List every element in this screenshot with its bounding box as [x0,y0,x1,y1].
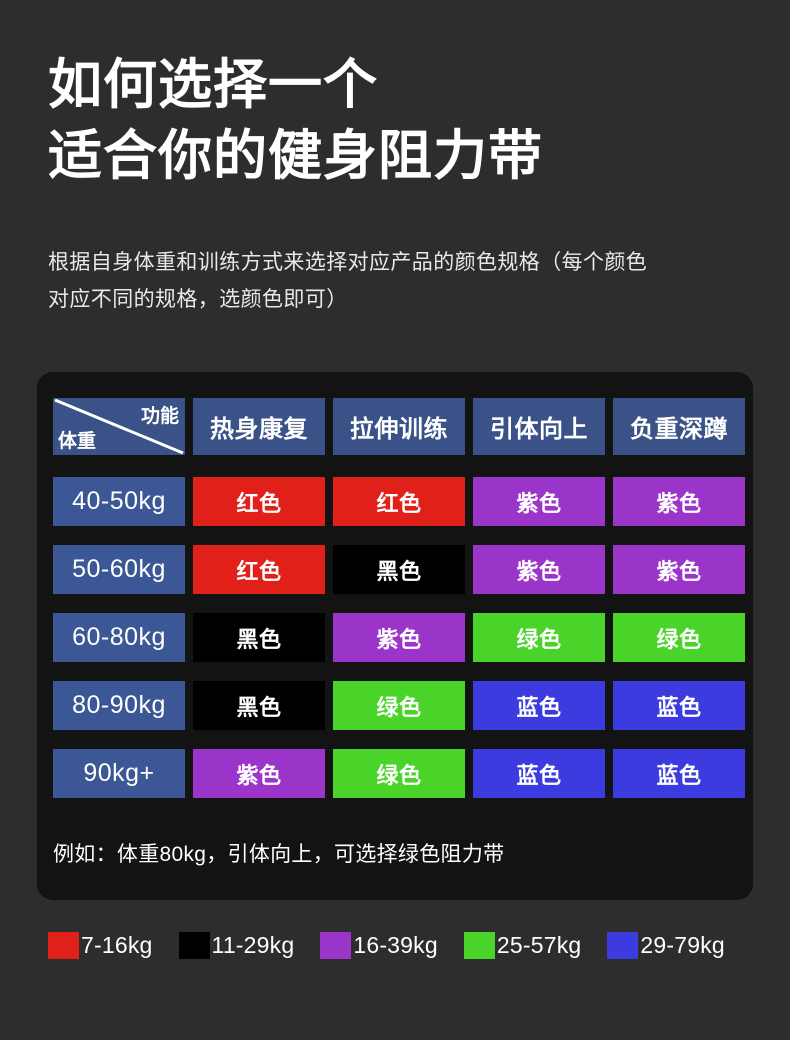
column-header-stretch: 拉伸训练 [333,398,465,455]
matrix-cell: 黑色 [193,681,325,730]
matrix-cell: 紫色 [613,545,745,594]
legend-swatch-blue [607,932,638,959]
matrix-cell: 黑色 [193,613,325,662]
selection-matrix-card: 功能 体重 热身康复 拉伸训练 引体向上 负重深蹲 40-50kg 红色 红色 … [37,372,753,900]
matrix-cell: 蓝色 [473,681,605,730]
matrix-cell: 黑色 [333,545,465,594]
row-header-weight: 90kg+ [53,749,185,798]
legend-label: 7-16kg [81,932,153,959]
legend-label: 25-57kg [497,932,582,959]
column-header-warmup: 热身康复 [193,398,325,455]
legend-item: 16-39kg [320,932,438,959]
table-row: 40-50kg 红色 红色 紫色 紫色 [53,477,745,526]
matrix-cell: 蓝色 [473,749,605,798]
matrix-corner-cell: 功能 体重 [53,398,185,455]
table-row: 80-90kg 黑色 绿色 蓝色 蓝色 [53,681,745,730]
legend-item: 7-16kg [48,932,153,959]
matrix-cell: 紫色 [613,477,745,526]
page-title-line-1: 如何选择一个 [48,50,748,121]
legend-swatch-black [179,932,210,959]
matrix-cell: 绿色 [333,749,465,798]
example-note: 例如：体重80kg，引体向上，可选择绿色阻力带 [53,838,504,868]
matrix-cell: 红色 [193,477,325,526]
matrix-axis-label-weight: 体重 [58,426,96,453]
page-subtitle: 根据自身体重和训练方式来选择对应产品的颜色规格（每个颜色 对应不同的规格，选颜色… [48,245,748,319]
legend-swatch-red [48,932,79,959]
matrix-cell: 蓝色 [613,749,745,798]
legend-label: 11-29kg [212,932,295,959]
matrix-header-row: 功能 体重 热身康复 拉伸训练 引体向上 负重深蹲 [53,398,745,455]
page-title-line-2: 适合你的健身阻力带 [48,121,748,192]
legend-swatch-green [464,932,495,959]
matrix-cell: 紫色 [473,545,605,594]
column-header-squat: 负重深蹲 [613,398,745,455]
page-subtitle-line-2: 对应不同的规格，选颜色即可） [48,282,748,319]
matrix-cell: 紫色 [473,477,605,526]
legend-item: 29-79kg [607,932,725,959]
page-title: 如何选择一个 适合你的健身阻力带 [48,50,748,193]
table-row: 50-60kg 红色 黑色 紫色 紫色 [53,545,745,594]
matrix-cell: 绿色 [333,681,465,730]
column-header-pullup: 引体向上 [473,398,605,455]
row-header-weight: 80-90kg [53,681,185,730]
row-header-weight: 50-60kg [53,545,185,594]
matrix-axis-label-function: 功能 [141,401,179,428]
matrix-cell: 红色 [333,477,465,526]
legend-item: 25-57kg [464,932,582,959]
legend-item: 11-29kg [179,932,295,959]
legend: 7-16kg 11-29kg 16-39kg 25-57kg 29-79kg [48,932,725,959]
legend-label: 16-39kg [353,932,438,959]
matrix-cell: 红色 [193,545,325,594]
matrix-cell: 紫色 [193,749,325,798]
page-subtitle-line-1: 根据自身体重和训练方式来选择对应产品的颜色规格（每个颜色 [48,245,748,282]
resistance-band-guide-page: 如何选择一个 适合你的健身阻力带 根据自身体重和训练方式来选择对应产品的颜色规格… [0,0,790,1040]
matrix-cell: 蓝色 [613,681,745,730]
table-row: 90kg+ 紫色 绿色 蓝色 蓝色 [53,749,745,798]
legend-label: 29-79kg [640,932,725,959]
row-header-weight: 40-50kg [53,477,185,526]
matrix-cell: 紫色 [333,613,465,662]
table-row: 60-80kg 黑色 紫色 绿色 绿色 [53,613,745,662]
row-header-weight: 60-80kg [53,613,185,662]
selection-matrix: 功能 体重 热身康复 拉伸训练 引体向上 负重深蹲 40-50kg 红色 红色 … [53,398,745,817]
matrix-cell: 绿色 [613,613,745,662]
matrix-cell: 绿色 [473,613,605,662]
legend-swatch-purple [320,932,351,959]
